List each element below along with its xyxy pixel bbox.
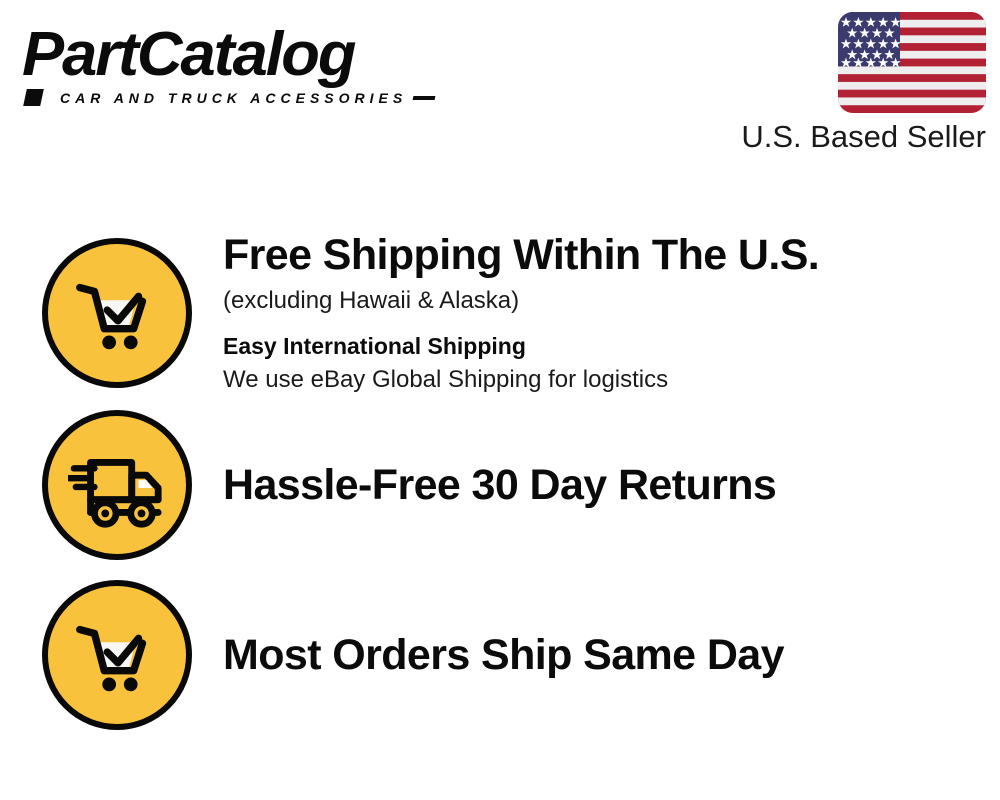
feature-text: Free Shipping Within The U.S. (excluding… [223, 231, 1000, 394]
feature-title: Most Orders Ship Same Day [223, 631, 980, 679]
feature-secondary-note: We use eBay Global Shipping for logistic… [223, 364, 980, 395]
feature-secondary-title: Easy International Shipping [223, 332, 980, 362]
feature-title: Free Shipping Within The U.S. [223, 231, 980, 279]
feature-list: Free Shipping Within The U.S. (excluding… [0, 170, 1000, 800]
brand-tagline: CAR AND TRUCK ACCESSORIES [60, 90, 407, 106]
feature-title: Hassle-Free 30 Day Returns [223, 461, 980, 509]
icon-circle [42, 410, 192, 560]
banner-header: PartCatalog CAR AND TRUCK ACCESSORIES [0, 0, 1000, 170]
partcatalog-logo: PartCatalog CAR AND TRUCK ACCESSORIES [22, 22, 492, 106]
feature-item: Hassle-Free 30 Day Returns [0, 400, 1000, 570]
feature-item: Most Orders Ship Same Day [0, 570, 1000, 740]
icon-circle [42, 238, 192, 388]
delivery-truck-icon [42, 410, 192, 560]
shopping-cart-check-icon [42, 580, 192, 730]
feature-text: Hassle-Free 30 Day Returns [223, 461, 1000, 509]
brand-tagline-row: CAR AND TRUCK ACCESSORIES [22, 89, 492, 106]
shopping-cart-check-icon [42, 238, 192, 388]
brand-slash-icon [23, 89, 44, 106]
icon-circle [42, 580, 192, 730]
feature-subtitle: (excluding Hawaii & Alaska) [223, 285, 980, 316]
feature-text: Most Orders Ship Same Day [223, 631, 1000, 679]
brand-wordmark: PartCatalog [22, 22, 501, 87]
brand-rule-icon [413, 96, 436, 100]
feature-item: Free Shipping Within The U.S. (excluding… [0, 228, 1000, 398]
us-flag-icon [838, 12, 986, 113]
us-based-seller-label: U.S. Based Seller [741, 118, 986, 155]
seller-banner: PartCatalog CAR AND TRUCK ACCESSORIES [0, 0, 1000, 800]
